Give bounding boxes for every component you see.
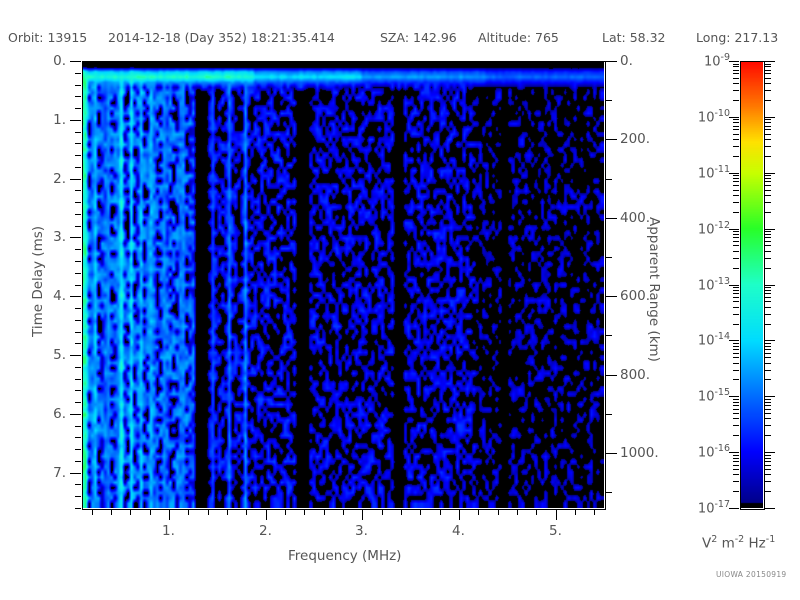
y-right-minor-tick (606, 414, 612, 415)
colorbar-minor-tick (765, 139, 771, 140)
colorbar-minor-tick (733, 469, 739, 470)
colorbar-minor-tick (765, 119, 771, 120)
header-field-altitude: Altitude: 765 (478, 30, 559, 45)
y-left-minor-tick (75, 332, 81, 333)
y-left-minor-tick (75, 214, 81, 215)
colorbar-minor-tick (733, 185, 739, 186)
colorbar-minor-tick (765, 245, 771, 246)
spectrogram-plot-area (82, 61, 604, 508)
x-tick-label-4: 4. (452, 523, 465, 539)
colorbar-minor-tick (765, 83, 771, 84)
y-left-minor-tick (75, 426, 81, 427)
colorbar-minor-tick (733, 314, 739, 315)
y-left-tick-label-6: 6. (0, 406, 66, 422)
y-right-minor-tick (606, 257, 612, 258)
y-right-major-tick (606, 61, 617, 62)
colorbar-minor-tick (733, 100, 739, 101)
colorbar-minor-tick (765, 126, 771, 127)
y-left-minor-tick (75, 143, 81, 144)
header-value-sza: 142.96 (413, 30, 457, 45)
colorbar-minor-tick (733, 129, 739, 130)
colorbar-minor-tick (733, 90, 739, 91)
colorbar-minor-tick (733, 346, 739, 347)
x-minor-tick (150, 509, 151, 515)
colorbar-minor-tick (765, 399, 771, 400)
colorbar-minor-tick (733, 122, 739, 123)
x-minor-tick (575, 509, 576, 515)
colorbar-minor-tick (765, 181, 771, 182)
colorbar-minor-tick (733, 156, 739, 157)
x-minor-tick (536, 509, 537, 515)
colorbar-minor-tick (765, 297, 771, 298)
x-minor-tick (208, 509, 209, 515)
y-left-major-tick (70, 179, 81, 180)
y-left-tick-label-0: 0. (0, 53, 66, 69)
x-major-tick (362, 509, 363, 520)
header-label-orbit: Orbit: (8, 30, 47, 45)
colorbar-minor-tick (765, 70, 771, 71)
colorbar-minor-tick (765, 134, 771, 135)
colorbar-major-tick (765, 452, 775, 453)
colorbar-minor-tick (733, 409, 739, 410)
x-minor-tick (111, 509, 112, 515)
colorbar-minor-tick (733, 73, 739, 74)
y-left-minor-tick (75, 449, 81, 450)
colorbar-minor-tick (765, 178, 771, 179)
y-left-major-tick (70, 355, 81, 356)
colorbar-minor-tick (765, 491, 771, 492)
colorbar-minor-tick (765, 409, 771, 410)
colorbar-minor-tick (733, 212, 739, 213)
colorbar-minor-tick (733, 126, 739, 127)
y-left-tick-label-5: 5. (0, 347, 66, 363)
colorbar-minor-tick (765, 287, 771, 288)
colorbar-minor-tick (765, 314, 771, 315)
x-major-tick (556, 509, 557, 520)
colorbar-minor-tick (733, 290, 739, 291)
y-left-minor-tick (75, 461, 81, 462)
colorbar-minor-tick (765, 212, 771, 213)
colorbar-minor-tick (733, 413, 739, 414)
y-left-minor-tick (75, 167, 81, 168)
header-value-datetime: 2014-12-18 (Day 352) 18:21:35.414 (108, 30, 335, 45)
header-field-long: Long: 217.13 (696, 30, 778, 45)
x-minor-tick (478, 509, 479, 515)
colorbar-tick-label-neg10: 10-10 (672, 108, 730, 125)
header-label-long: Long: (696, 30, 734, 45)
colorbar-major-tick (765, 229, 775, 230)
colorbar-minor-tick (765, 64, 771, 65)
y-left-tick-label-1: 1. (0, 112, 66, 128)
colorbar-tick-label-neg13: 10-13 (672, 276, 730, 293)
colorbar-minor-tick (733, 234, 739, 235)
y-left-minor-tick (75, 343, 81, 344)
y-left-minor-tick (75, 155, 81, 156)
colorbar-major-tick (729, 508, 739, 509)
colorbar-minor-tick (733, 134, 739, 135)
colorbar-minor-tick (765, 195, 771, 196)
x-major-tick (266, 509, 267, 520)
colorbar-minor-tick (733, 190, 739, 191)
colorbar-minor-tick (733, 66, 739, 67)
colorbar-tick-label-neg12: 10-12 (672, 220, 730, 237)
colorbar-minor-tick (765, 258, 771, 259)
colorbar-minor-tick (733, 258, 739, 259)
colorbar-tick-label-neg15: 10-15 (672, 387, 730, 404)
colorbar-minor-tick (765, 73, 771, 74)
y-left-minor-tick (75, 73, 81, 74)
colorbar-major-tick (729, 173, 739, 174)
colorbar-minor-tick (765, 363, 771, 364)
colorbar-minor-tick (765, 146, 771, 147)
colorbar-gradient (740, 61, 763, 508)
colorbar-minor-tick (765, 190, 771, 191)
y-right-minor-tick (606, 100, 612, 101)
header-value-long: 217.13 (734, 30, 778, 45)
colorbar-minor-tick (733, 146, 739, 147)
colorbar-minor-tick (765, 241, 771, 242)
colorbar-major-tick (729, 229, 739, 230)
colorbar-major-tick (765, 61, 775, 62)
x-minor-tick (324, 509, 325, 515)
colorbar-minor-tick (733, 402, 739, 403)
colorbar-minor-tick (733, 241, 739, 242)
colorbar-major-tick (729, 452, 739, 453)
colorbar-minor-tick (765, 156, 771, 157)
x-minor-tick (420, 509, 421, 515)
colorbar-major-tick (765, 508, 775, 509)
colorbar-minor-tick (765, 343, 771, 344)
y-right-major-tick (606, 453, 617, 454)
colorbar-minor-tick (733, 139, 739, 140)
x-major-tick (169, 509, 170, 520)
colorbar-minor-tick (765, 293, 771, 294)
y-left-minor-tick (75, 508, 81, 509)
colorbar-minor-tick (733, 363, 739, 364)
colorbar-minor-tick (765, 307, 771, 308)
colorbar-units-label: V2 m-2 Hz-1 (702, 534, 775, 552)
x-tick-label-2: 2. (259, 523, 272, 539)
colorbar (740, 61, 763, 508)
x-axis-title: Frequency (MHz) (288, 548, 401, 564)
y-left-minor-tick (75, 320, 81, 321)
colorbar-minor-tick (733, 119, 739, 120)
colorbar-minor-tick (733, 231, 739, 232)
y-left-minor-tick (75, 379, 81, 380)
y-left-minor-tick (75, 285, 81, 286)
y-right-tick-label-0: 0. (620, 53, 633, 69)
colorbar-major-tick (729, 61, 739, 62)
colorbar-minor-tick (733, 370, 739, 371)
colorbar-minor-tick (765, 405, 771, 406)
x-minor-tick (227, 509, 228, 515)
colorbar-minor-tick (765, 357, 771, 358)
colorbar-minor-tick (765, 402, 771, 403)
y-right-major-tick (606, 375, 617, 376)
colorbar-minor-tick (733, 474, 739, 475)
y-right-major-tick (606, 139, 617, 140)
y-right-minor-tick (606, 335, 612, 336)
y-left-minor-tick (75, 202, 81, 203)
y-left-minor-tick (75, 96, 81, 97)
y-right-minor-tick (606, 492, 612, 493)
y-left-major-tick (70, 296, 81, 297)
colorbar-minor-tick (765, 474, 771, 475)
header-field-sza: SZA: 142.96 (380, 30, 457, 45)
y-left-minor-tick (75, 108, 81, 109)
colorbar-minor-tick (765, 234, 771, 235)
colorbar-minor-tick (733, 418, 739, 419)
y-left-minor-tick (75, 132, 81, 133)
colorbar-minor-tick (765, 481, 771, 482)
colorbar-minor-tick (733, 353, 739, 354)
colorbar-minor-tick (733, 357, 739, 358)
colorbar-minor-tick (733, 349, 739, 350)
colorbar-minor-tick (733, 405, 739, 406)
colorbar-minor-tick (733, 251, 739, 252)
colorbar-major-tick (765, 117, 775, 118)
x-minor-tick (382, 509, 383, 515)
colorbar-minor-tick (765, 268, 771, 269)
x-major-tick (459, 509, 460, 520)
colorbar-minor-tick (765, 129, 771, 130)
colorbar-minor-tick (765, 66, 771, 67)
observation-header: Orbit: 139152014-12-18 (Day 352) 18:21:3… (0, 30, 800, 48)
x-minor-tick (594, 509, 595, 515)
y-left-major-tick (70, 61, 81, 62)
colorbar-minor-tick (765, 435, 771, 436)
x-tick-label-5: 5. (549, 523, 562, 539)
x-minor-tick (285, 509, 286, 515)
colorbar-minor-tick (733, 491, 739, 492)
y-left-tick-label-2: 2. (0, 171, 66, 187)
colorbar-major-tick (729, 117, 739, 118)
header-field-orbit: Orbit: 13915 (8, 30, 87, 45)
colorbar-minor-tick (765, 461, 771, 462)
colorbar-minor-tick (733, 287, 739, 288)
y-axis-title-right: Apparent Range (km) (646, 217, 662, 362)
colorbar-major-tick (765, 173, 775, 174)
y-axis-title-left: Time Delay (ms) (30, 225, 46, 336)
x-minor-tick (188, 509, 189, 515)
x-minor-tick (498, 509, 499, 515)
y-left-minor-tick (75, 390, 81, 391)
colorbar-minor-tick (765, 290, 771, 291)
colorbar-minor-tick (733, 301, 739, 302)
header-value-orbit: 13915 (47, 30, 87, 45)
colorbar-minor-tick (733, 70, 739, 71)
y-left-minor-tick (75, 273, 81, 274)
colorbar-minor-tick (765, 465, 771, 466)
y-left-minor-tick (75, 261, 81, 262)
colorbar-major-tick (729, 340, 739, 341)
colorbar-major-tick (729, 396, 739, 397)
colorbar-minor-tick (765, 346, 771, 347)
colorbar-minor-tick (733, 78, 739, 79)
y-left-major-tick (70, 237, 81, 238)
x-minor-tick (246, 509, 247, 515)
y-left-minor-tick (75, 308, 81, 309)
y-left-major-tick (70, 120, 81, 121)
y-right-tick-label-200: 200. (620, 131, 650, 147)
y-right-minor-tick (606, 179, 612, 180)
colorbar-minor-tick (765, 379, 771, 380)
colorbar-minor-tick (733, 343, 739, 344)
y-left-minor-tick (75, 249, 81, 250)
colorbar-minor-tick (733, 175, 739, 176)
colorbar-minor-tick (765, 413, 771, 414)
colorbar-minor-tick (765, 251, 771, 252)
x-minor-tick (343, 509, 344, 515)
y-right-tick-label-800: 800. (620, 367, 650, 383)
colorbar-minor-tick (733, 465, 739, 466)
y-left-minor-tick (75, 85, 81, 86)
colorbar-minor-tick (765, 78, 771, 79)
colorbar-minor-tick (733, 297, 739, 298)
colorbar-tick-label-neg16: 10-16 (672, 443, 730, 460)
colorbar-minor-tick (765, 237, 771, 238)
colorbar-minor-tick (765, 122, 771, 123)
colorbar-minor-tick (733, 195, 739, 196)
x-minor-tick (401, 509, 402, 515)
colorbar-minor-tick (733, 458, 739, 459)
header-label-altitude: Altitude: (478, 30, 535, 45)
y-left-minor-tick (75, 190, 81, 191)
colorbar-minor-tick (733, 307, 739, 308)
colorbar-minor-tick (765, 324, 771, 325)
colorbar-minor-tick (733, 268, 739, 269)
x-minor-tick (304, 509, 305, 515)
y-left-major-tick (70, 414, 81, 415)
colorbar-minor-tick (765, 301, 771, 302)
colorbar-major-tick (765, 396, 775, 397)
colorbar-minor-tick (733, 245, 739, 246)
colorbar-minor-tick (733, 435, 739, 436)
x-minor-tick (92, 509, 93, 515)
colorbar-minor-tick (733, 202, 739, 203)
header-value-altitude: 765 (535, 30, 559, 45)
colorbar-minor-tick (733, 455, 739, 456)
colorbar-minor-tick (765, 469, 771, 470)
header-field-datetime: 2014-12-18 (Day 352) 18:21:35.414 (108, 30, 335, 45)
y-left-minor-tick (75, 402, 81, 403)
colorbar-minor-tick (733, 379, 739, 380)
colorbar-tick-label-neg9: 10-9 (672, 52, 730, 69)
colorbar-minor-tick (765, 458, 771, 459)
y-left-major-tick (70, 473, 81, 474)
colorbar-minor-tick (733, 83, 739, 84)
colorbar-major-tick (729, 285, 739, 286)
header-value-lat: 58.32 (630, 30, 666, 45)
y-right-major-tick (606, 218, 617, 219)
colorbar-minor-tick (765, 100, 771, 101)
colorbar-minor-tick (765, 370, 771, 371)
y-left-minor-tick (75, 437, 81, 438)
colorbar-minor-tick (733, 324, 739, 325)
credit-text: UIOWA 20150919 (716, 570, 787, 579)
y-left-minor-tick (75, 484, 81, 485)
colorbar-minor-tick (765, 231, 771, 232)
colorbar-minor-tick (733, 178, 739, 179)
colorbar-major-tick (765, 285, 775, 286)
colorbar-minor-tick (765, 353, 771, 354)
colorbar-minor-tick (765, 202, 771, 203)
x-tick-label-3: 3. (355, 523, 368, 539)
colorbar-minor-tick (733, 64, 739, 65)
x-minor-tick (130, 509, 131, 515)
colorbar-minor-tick (733, 399, 739, 400)
colorbar-minor-tick (765, 185, 771, 186)
y-left-minor-tick (75, 496, 81, 497)
x-tick-label-1: 1. (162, 523, 175, 539)
colorbar-minor-tick (733, 461, 739, 462)
y-left-tick-label-7: 7. (0, 465, 66, 481)
x-minor-tick (440, 509, 441, 515)
ionogram-figure: Orbit: 139152014-12-18 (Day 352) 18:21:3… (0, 0, 800, 600)
x-minor-tick (517, 509, 518, 515)
y-left-minor-tick (75, 367, 81, 368)
header-label-lat: Lat: (602, 30, 630, 45)
y-left-minor-tick (75, 226, 81, 227)
colorbar-tick-label-neg11: 10-11 (672, 164, 730, 181)
colorbar-tick-label-neg17: 10-17 (672, 499, 730, 516)
colorbar-minor-tick (733, 237, 739, 238)
y-right-major-tick (606, 296, 617, 297)
colorbar-minor-tick (733, 481, 739, 482)
colorbar-minor-tick (733, 293, 739, 294)
colorbar-minor-tick (765, 425, 771, 426)
spectrogram-image (82, 61, 604, 508)
header-field-lat: Lat: 58.32 (602, 30, 666, 45)
y-right-tick-label-1000: 1000. (620, 445, 659, 461)
colorbar-minor-tick (765, 349, 771, 350)
colorbar-minor-tick (765, 418, 771, 419)
colorbar-minor-tick (765, 455, 771, 456)
colorbar-major-tick (765, 340, 775, 341)
colorbar-minor-tick (765, 90, 771, 91)
colorbar-minor-tick (733, 425, 739, 426)
colorbar-minor-tick (733, 181, 739, 182)
colorbar-minor-tick (765, 175, 771, 176)
header-label-sza: SZA: (380, 30, 413, 45)
colorbar-tick-label-neg14: 10-14 (672, 331, 730, 348)
